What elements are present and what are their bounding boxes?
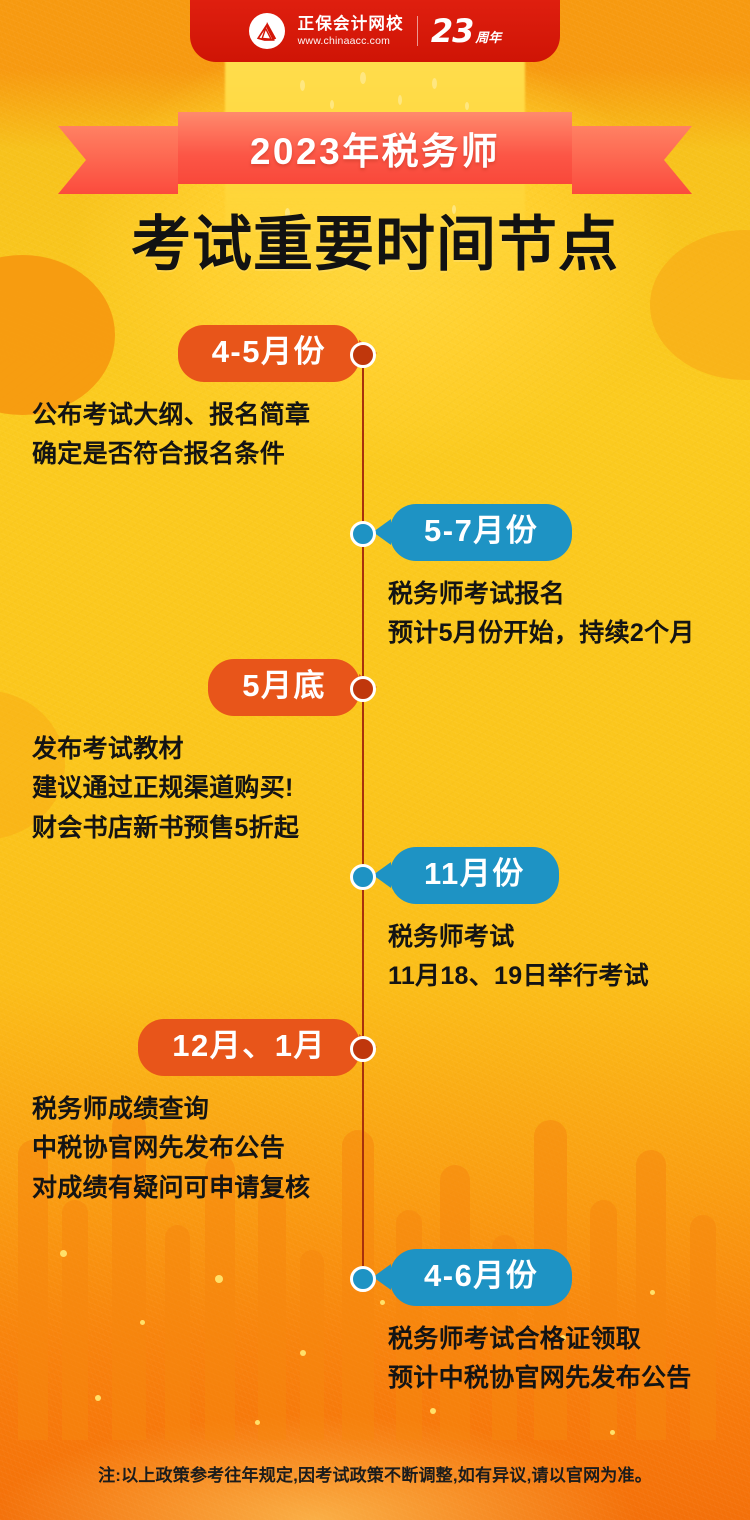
timeline-label-2[interactable]: 5-7月份 xyxy=(390,504,572,561)
timeline-entry-3[interactable]: 5月底 发布考试教材 建议通过正规渠道购买! 财会书店新书预售5折起 xyxy=(0,659,400,848)
timeline-entry-4[interactable]: 11月份 税务师考试 11月18、19日举行考试 xyxy=(350,847,750,997)
headline-text: 考试重要时间节点 xyxy=(131,211,619,278)
timeline-dot-3 xyxy=(350,676,376,702)
timeline-dot-6 xyxy=(350,1266,376,1292)
timeline-label-5[interactable]: 12月、1月 xyxy=(138,1019,360,1076)
timeline-dot-1 xyxy=(350,342,376,368)
timeline-line-text: 中税协官网先发布公告 xyxy=(32,1129,380,1169)
anniversary-number: 23 xyxy=(431,15,474,47)
timeline-entry-6[interactable]: 4-6月份 税务师考试合格证领取 预计中税协官网先发布公告 xyxy=(350,1249,750,1399)
sparkle xyxy=(610,1430,615,1435)
timeline-dot-2 xyxy=(350,521,376,547)
timeline-entry-2[interactable]: 5-7月份 税务师考试报名 预计5月份开始，持续2个月 xyxy=(350,504,750,654)
timeline-line-text: 建议通过正规渠道购买! xyxy=(32,769,380,809)
timeline-entry-1[interactable]: 4-5月份 公布考试大纲、报名简章 确定是否符合报名条件 xyxy=(0,325,400,475)
speck xyxy=(398,95,402,105)
timeline-line-text: 发布考试教材 xyxy=(32,730,380,770)
timeline-lines-3: 发布考试教材 建议通过正规渠道购买! 财会书店新书预售5折起 xyxy=(0,730,400,849)
timeline-line-text: 税务师考试 xyxy=(388,918,740,958)
footer-note-text: 注:以上政策参考往年规定,因考试政策不断调整,如有异议,请以官网为准。 xyxy=(98,1466,652,1485)
timeline-line-text: 预计中税协官网先发布公告 xyxy=(388,1359,740,1399)
ribbon-tail-left xyxy=(58,126,178,194)
speck xyxy=(300,80,305,91)
page-title: 考试重要时间节点 xyxy=(0,196,750,283)
timeline-line-text: 对成绩有疑问可申请复核 xyxy=(32,1169,380,1209)
brand-url: www.chinaacc.com xyxy=(298,36,404,47)
sparkle xyxy=(300,1350,306,1356)
ribbon-banner: 2023年税务师 xyxy=(0,112,750,194)
header-divider xyxy=(417,16,418,46)
timeline-label-3[interactable]: 5月底 xyxy=(208,659,360,716)
ribbon-title: 2023年税务师 xyxy=(250,121,500,175)
sparkle xyxy=(430,1408,436,1414)
timeline-lines-5: 税务师成绩查询 中税协官网先发布公告 对成绩有疑问可申请复核 xyxy=(0,1090,400,1209)
timeline-dot-5 xyxy=(350,1036,376,1062)
ribbon-main: 2023年税务师 xyxy=(178,112,572,184)
sparkle xyxy=(95,1395,101,1401)
timeline-line-text: 预计5月份开始，持续2个月 xyxy=(388,614,740,654)
timeline-label-4[interactable]: 11月份 xyxy=(390,847,559,904)
timeline-line-text: 税务师考试合格证领取 xyxy=(388,1320,740,1360)
poster-root: 正保会计网校 www.chinaacc.com 23 周年 2023年税务师 考… xyxy=(0,0,750,1520)
header-bar: 正保会计网校 www.chinaacc.com 23 周年 xyxy=(190,0,560,62)
anniversary-badge: 23 周年 xyxy=(431,15,502,47)
sparkle xyxy=(140,1320,145,1325)
timeline-lines-2: 税务师考试报名 预计5月份开始，持续2个月 xyxy=(350,575,750,654)
speck xyxy=(330,100,334,109)
ribbon-tail-right xyxy=(572,126,692,194)
speck xyxy=(432,78,437,89)
timeline-line-text: 税务师考试报名 xyxy=(388,575,740,615)
timeline-lines-4: 税务师考试 11月18、19日举行考试 xyxy=(350,918,750,997)
timeline-line-text: 税务师成绩查询 xyxy=(32,1090,380,1130)
brand-block: 正保会计网校 www.chinaacc.com xyxy=(298,16,404,47)
timeline-line-text: 确定是否符合报名条件 xyxy=(32,435,380,475)
speck xyxy=(465,102,469,110)
sparkle xyxy=(60,1250,67,1257)
sparkle xyxy=(255,1420,260,1425)
timeline-label-1[interactable]: 4-5月份 xyxy=(178,325,360,382)
sparkle xyxy=(215,1275,223,1283)
timeline-entry-5[interactable]: 12月、1月 税务师成绩查询 中税协官网先发布公告 对成绩有疑问可申请复核 xyxy=(0,1019,400,1208)
anniversary-suffix: 周年 xyxy=(475,27,501,46)
timeline-line-text: 公布考试大纲、报名简章 xyxy=(32,396,380,436)
timeline-line-text: 财会书店新书预售5折起 xyxy=(32,809,380,849)
timeline-lines-1: 公布考试大纲、报名简章 确定是否符合报名条件 xyxy=(0,396,400,475)
chinaacc-triangle-logo-icon xyxy=(249,13,285,49)
timeline-dot-4 xyxy=(350,864,376,890)
footer-disclaimer: 注:以上政策参考往年规定,因考试政策不断调整,如有异议,请以官网为准。 xyxy=(0,1461,750,1486)
brand-name: 正保会计网校 xyxy=(298,16,404,33)
timeline-line-text: 11月18、19日举行考试 xyxy=(388,957,740,997)
timeline-lines-6: 税务师考试合格证领取 预计中税协官网先发布公告 xyxy=(350,1320,750,1399)
timeline-label-6[interactable]: 4-6月份 xyxy=(390,1249,572,1306)
speck xyxy=(360,72,366,84)
